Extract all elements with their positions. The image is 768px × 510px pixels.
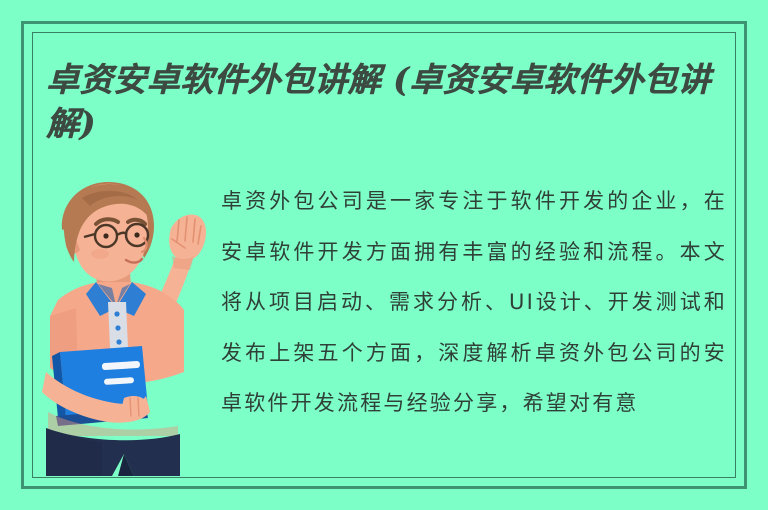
- illustration-man-with-glasses-waving-holding-book: [38, 176, 214, 476]
- article-card: 卓资安卓软件外包讲解 (卓资安卓软件外包讲解): [0, 0, 768, 510]
- page-title: 卓资安卓软件外包讲解 (卓资安卓软件外包讲解): [46, 58, 730, 146]
- article-body: 卓资外包公司是一家专注于软件开发的企业，在安卓软件开发方面拥有丰富的经验和流程。…: [221, 176, 727, 429]
